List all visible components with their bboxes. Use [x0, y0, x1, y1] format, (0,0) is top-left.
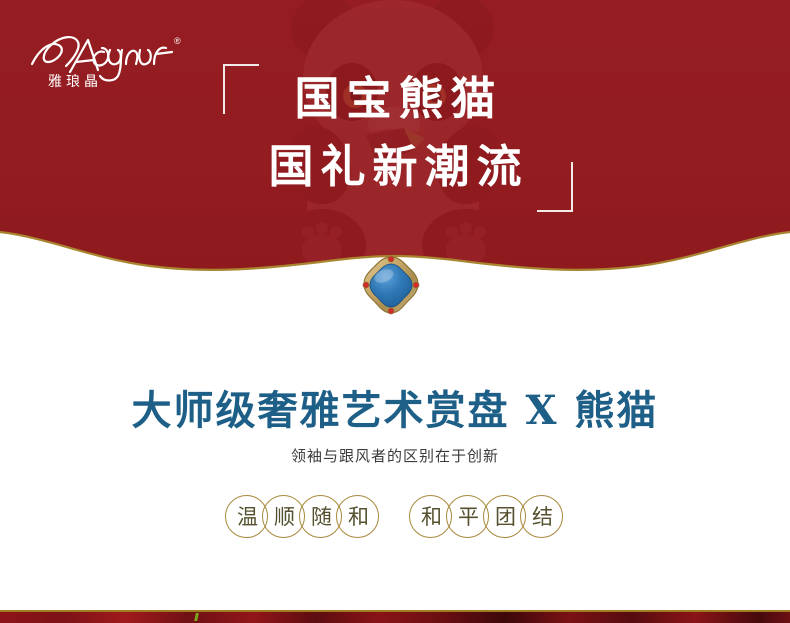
lower-content-section: 大师级奢雅艺术赏盘 X 熊猫 领袖与跟风者的区别在于创新 温 顺 随 和 [0, 300, 790, 610]
badge-char-label: 结 [532, 507, 553, 528]
logo-mark-icon: ® 雅琅晶 [26, 28, 186, 90]
badge-char-label: 和 [348, 507, 369, 528]
badge-char-label: 团 [495, 507, 516, 528]
registered-mark: ® [174, 36, 181, 46]
hero-title-lines: 国宝熊猫 国礼新潮流 [215, 66, 575, 200]
badge-char-label: 顺 [274, 507, 295, 528]
accent-stone-top [388, 256, 394, 262]
product-banner-page: ® 雅琅晶 国宝熊猫 国礼新潮流 [0, 0, 790, 623]
brand-logo[interactable]: ® 雅琅晶 [26, 28, 186, 90]
badge-char-label: 平 [458, 507, 479, 528]
strip-green-accent [194, 613, 199, 621]
section-subtitle: 领袖与跟风者的区别在于创新 [0, 445, 790, 466]
badge-char-label: 温 [237, 507, 258, 528]
accent-stone-left [363, 282, 369, 288]
badge-char-label: 和 [421, 507, 442, 528]
hero-title-line-2: 国礼新潮流 [215, 134, 575, 200]
accent-stone-right [413, 282, 419, 288]
decorative-red-texture-strip [0, 610, 790, 623]
hero-title-block: 国宝熊猫 国礼新潮流 [215, 58, 575, 218]
logo-chinese-name: 雅琅晶 [48, 74, 102, 90]
section-heading: 大师级奢雅艺术赏盘 X 熊猫 [0, 378, 790, 436]
badge-gentle[interactable]: 温 顺 随 和 [225, 495, 381, 540]
badge-char: 和 [336, 495, 381, 540]
badge-char: 结 [520, 495, 565, 540]
feature-badges: 温 顺 随 和 和 平 团 [0, 495, 790, 540]
hero-title-line-1: 国宝熊猫 [215, 66, 575, 132]
badge-peace[interactable]: 和 平 团 结 [409, 495, 565, 540]
badge-char-label: 随 [311, 507, 332, 528]
